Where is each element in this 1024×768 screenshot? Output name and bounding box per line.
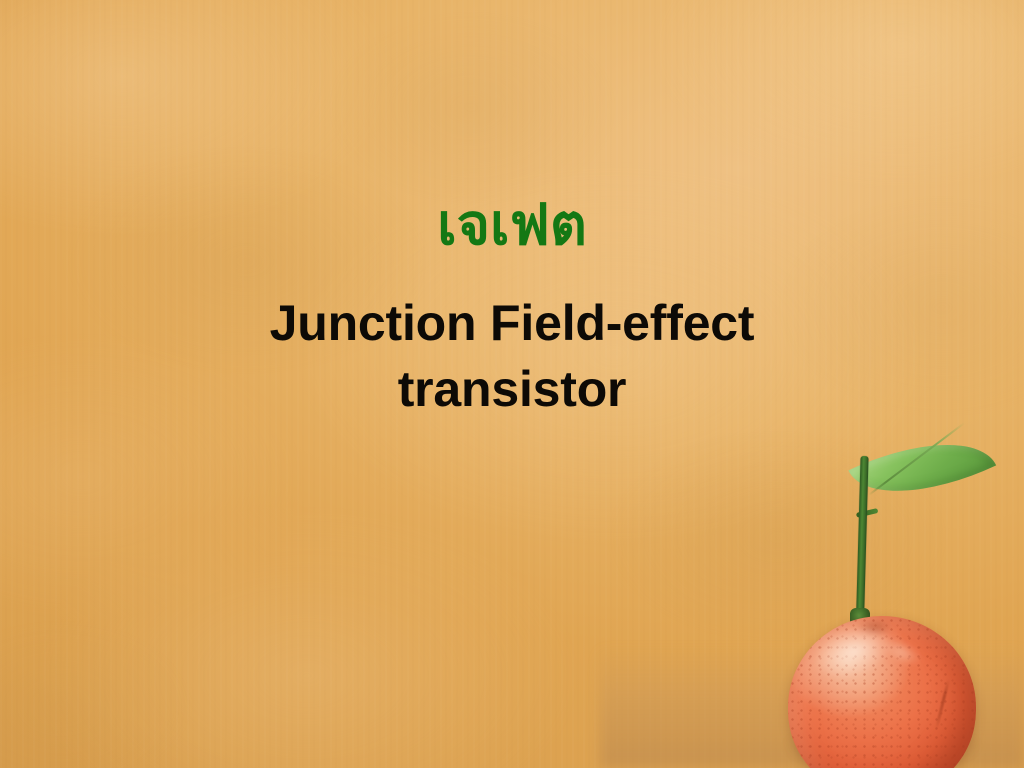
orange-fruit-body [788, 616, 976, 768]
slide-subtitle: Junction Field-effect transistor [212, 290, 812, 423]
orange-crease [935, 678, 950, 729]
presentation-slide: เจเฟต Junction Field-effect transistor [0, 0, 1024, 768]
slide-text-block: เจเฟต Junction Field-effect transistor [0, 196, 1024, 423]
leaf-midrib [868, 422, 965, 495]
table-surface [600, 648, 1024, 768]
stem-base [850, 608, 870, 630]
slide-subtitle-line-2: transistor [212, 356, 812, 423]
orange-navel [850, 616, 899, 638]
leaf-stalk [856, 508, 879, 518]
stem-icon [856, 456, 869, 620]
orange-highlight [804, 616, 923, 702]
orange-sheen [871, 628, 934, 678]
orange-peel-texture [788, 616, 976, 768]
slide-title-thai: เจเฟต [0, 196, 1024, 256]
mandarin-orange-image [762, 440, 1024, 768]
slide-subtitle-line-1: Junction Field-effect [212, 290, 812, 357]
fruit-shadow [784, 726, 980, 766]
leaf-icon [848, 413, 996, 523]
leaf-blade [848, 413, 996, 523]
